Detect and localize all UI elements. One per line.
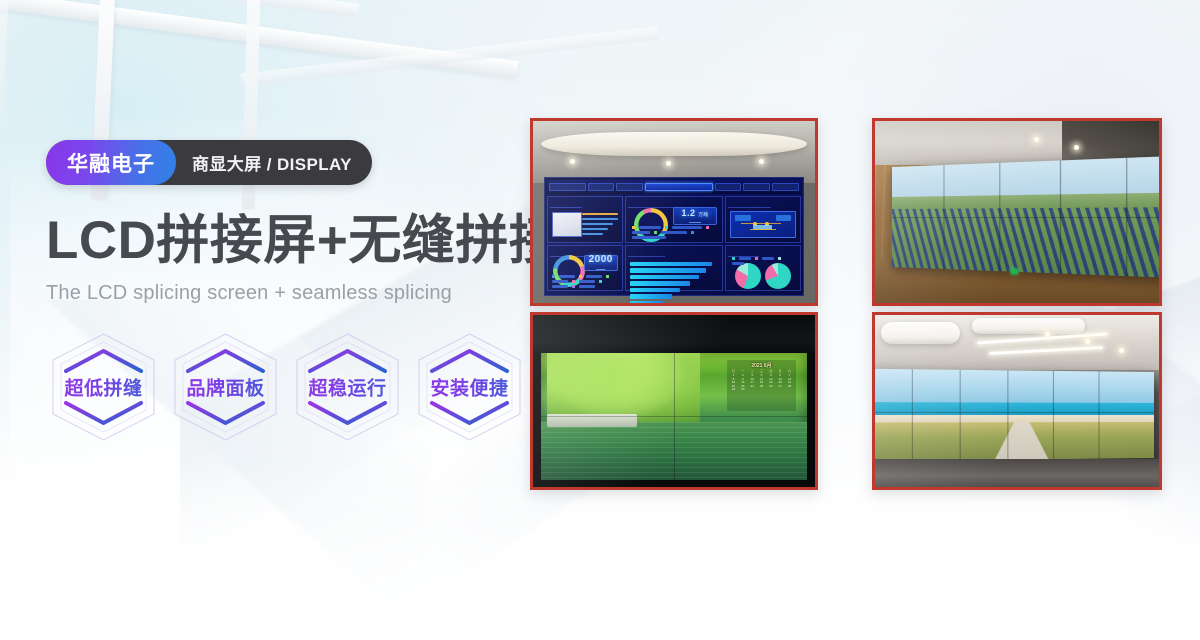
feature-list: 超低拼缝 品牌面板 — [46, 331, 526, 443]
brand-category-label: 商显大屏 / DISPLAY — [176, 140, 372, 185]
calendar-day: 26 — [766, 385, 775, 388]
gallery-photo-lake-scenery-video-wall[interactable]: 2021 6月 日一二三四五六 123456789101112131415161… — [530, 312, 818, 490]
dashboard-kpi-value: 1.2 — [682, 208, 696, 218]
feature-label: 品牌面板 — [168, 374, 283, 401]
gallery-photo-dashboard-video-wall[interactable]: 1.2 万吨 ▬▬▬▬ — [530, 118, 818, 306]
feature-label: 超稳运行 — [290, 374, 405, 401]
feature-badge-2[interactable]: 品牌面板 — [168, 331, 283, 443]
calendar-day: 25 — [757, 385, 766, 388]
brand-name: 华融电子 — [46, 140, 176, 185]
feature-badge-3[interactable]: 超稳运行 — [290, 331, 405, 443]
feature-label: 安装便捷 — [412, 374, 527, 401]
beach-boardwalk-screen — [872, 368, 1153, 461]
dashboard-kpi-secondary: 2000 — [589, 254, 613, 265]
dashboard-screen: 1.2 万吨 ▬▬▬▬ — [544, 177, 803, 295]
product-photo-gallery: 1.2 万吨 ▬▬▬▬ — [530, 118, 1162, 490]
feature-badge-4[interactable]: 安装便捷 — [412, 331, 527, 443]
headline-column: 华融电子 商显大屏 / DISPLAY LCD拼接屏+无缝拼接 The LCD … — [46, 140, 526, 443]
page-subtitle: The LCD splicing screen + seamless splic… — [46, 282, 526, 305]
calendar-overlay: 2021 6月 日一二三四五六 123456789101112131415161… — [727, 360, 796, 411]
ceiling-beam — [0, 0, 11, 150]
dashboard-kpi-unit: 万吨 — [699, 212, 709, 217]
gallery-photo-beach-boardwalk-video-wall[interactable] — [872, 312, 1162, 490]
brand-badge: 华融电子 商显大屏 / DISPLAY — [46, 140, 372, 185]
lake-scenery-screen: 2021 6月 日一二三四五六 123456789101112131415161… — [541, 353, 806, 480]
ceiling-beam — [0, 0, 519, 78]
ceiling-beam — [241, 26, 660, 86]
calendar-title: 2021 6月 — [729, 362, 794, 369]
calendar-day: 29 — [729, 388, 738, 391]
calendar-day: 24 — [748, 385, 757, 388]
feature-label: 超低拼缝 — [46, 374, 161, 401]
calendar-day: 28 — [785, 385, 794, 388]
calendar-day: 27 — [776, 385, 785, 388]
solar-farm-screen — [892, 155, 1162, 279]
calendar-day: 30 — [738, 388, 747, 391]
feature-badge-1[interactable]: 超低拼缝 — [46, 331, 161, 443]
gallery-photo-solar-farm-video-wall[interactable] — [872, 118, 1162, 306]
ceiling-beam — [0, 0, 359, 18]
page-title: LCD拼接屏+无缝拼接 — [46, 213, 526, 268]
promo-banner: 华融电子 商显大屏 / DISPLAY LCD拼接屏+无缝拼接 The LCD … — [0, 0, 1200, 640]
calendar-day-grid: 1234567891011121314151617181920212223242… — [729, 374, 794, 391]
